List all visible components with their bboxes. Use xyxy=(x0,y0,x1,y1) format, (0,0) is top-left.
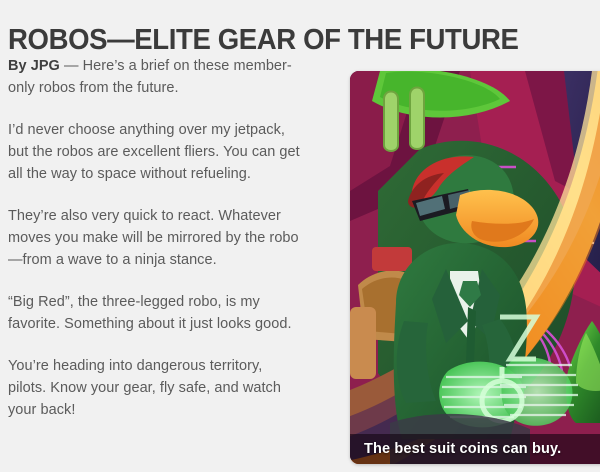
figure-caption-text: The best suit coins can buy. xyxy=(364,441,561,457)
page-title: ROBOS—ELITE GEAR OF THE FUTURE xyxy=(8,21,563,59)
byline-author: By JPG xyxy=(8,58,60,74)
illustration-artwork xyxy=(350,71,600,464)
paragraph-reaction: They’re also very quick to react. Whatev… xyxy=(8,205,300,271)
paragraph-big-red: “Big Red”, the three-legged robo, is my … xyxy=(8,291,300,335)
paragraph-signoff: You’re heading into dangerous territory,… xyxy=(8,355,300,421)
paragraph-jetpack: I’d never choose anything over my jetpac… xyxy=(8,119,300,185)
figure-caption-bar: The best suit coins can buy. xyxy=(350,434,600,464)
article-page: ROBOS—ELITE GEAR OF THE FUTURE By JPG — … xyxy=(0,0,600,472)
paragraph-intro: By JPG — Here’s a brief on these member-… xyxy=(8,55,300,99)
article-illustration: The best suit coins can buy. xyxy=(350,71,600,464)
article-body: By JPG — Here’s a brief on these member-… xyxy=(8,55,300,421)
